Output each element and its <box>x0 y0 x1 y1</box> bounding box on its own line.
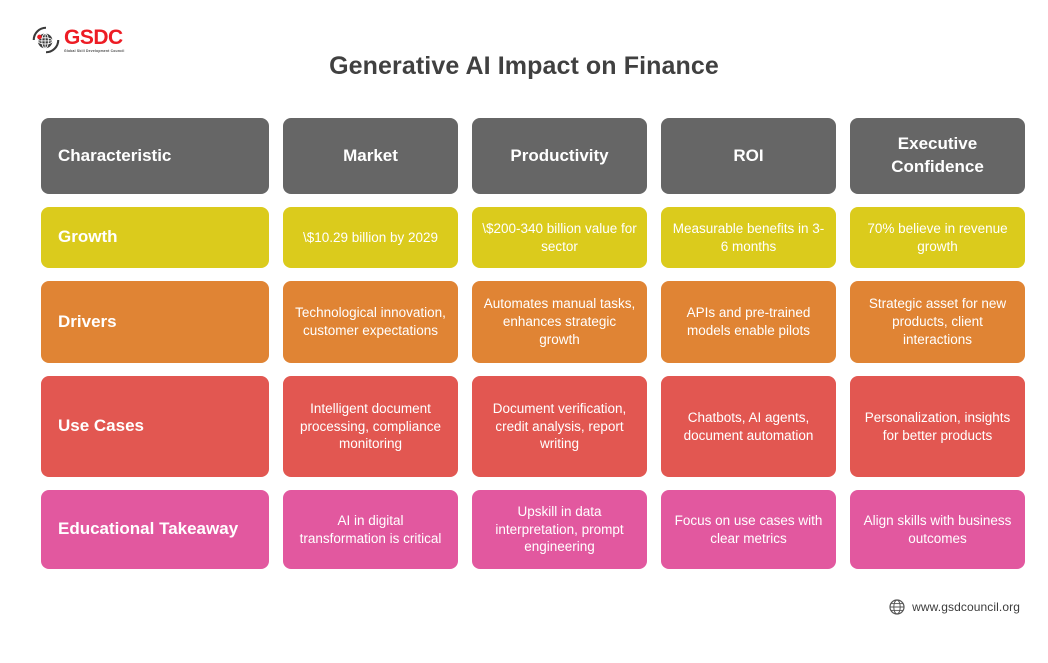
cell-growth-productivity: \$200-340 billion value for sector <box>472 207 647 268</box>
comparison-matrix: Characteristic Market Productivity ROI E… <box>41 118 1001 569</box>
footer-url[interactable]: www.gsdcouncil.org <box>912 600 1020 614</box>
column-header-characteristic: Characteristic <box>41 118 269 194</box>
page-title: Generative AI Impact on Finance <box>0 52 1048 81</box>
cell-growth-roi: Measurable benefits in 3-6 months <box>661 207 836 268</box>
cell-takeaway-executive-confidence: Align skills with business outcomes <box>850 490 1025 569</box>
row-label-educational-takeaway: Educational Takeaway <box>41 490 269 569</box>
cell-use-cases-market: Intelligent document processing, complia… <box>283 376 458 477</box>
cell-use-cases-productivity: Document verification, credit analysis, … <box>472 376 647 477</box>
cell-takeaway-roi: Focus on use cases with clear metrics <box>661 490 836 569</box>
table-row: Educational Takeaway AI in digital trans… <box>41 490 1001 569</box>
row-label-growth: Growth <box>41 207 269 268</box>
column-header-productivity: Productivity <box>472 118 647 194</box>
cell-drivers-market: Technological innovation, customer expec… <box>283 281 458 363</box>
column-header-executive-confidence: Executive Confidence <box>850 118 1025 194</box>
column-header-roi: ROI <box>661 118 836 194</box>
globe-icon <box>889 599 905 615</box>
cell-growth-executive-confidence: 70% believe in revenue growth <box>850 207 1025 268</box>
cell-use-cases-roi: Chatbots, AI agents, document automation <box>661 376 836 477</box>
row-label-use-cases: Use Cases <box>41 376 269 477</box>
cell-drivers-roi: APIs and pre-trained models enable pilot… <box>661 281 836 363</box>
table-header-row: Characteristic Market Productivity ROI E… <box>41 118 1001 194</box>
cell-growth-market: \$10.29 billion by 2029 <box>283 207 458 268</box>
brand-logo: GSDC Global Skill Development Council <box>32 26 124 54</box>
brand-name: GSDC <box>64 27 124 48</box>
row-label-drivers: Drivers <box>41 281 269 363</box>
column-header-market: Market <box>283 118 458 194</box>
table-row: Use Cases Intelligent document processin… <box>41 376 1001 477</box>
cell-takeaway-productivity: Upskill in data interpretation, prompt e… <box>472 490 647 569</box>
table-row: Growth \$10.29 billion by 2029 \$200-340… <box>41 207 1001 268</box>
cell-use-cases-executive-confidence: Personalization, insights for better pro… <box>850 376 1025 477</box>
cell-takeaway-market: AI in digital transformation is critical <box>283 490 458 569</box>
globe-icon <box>32 26 60 54</box>
cell-drivers-productivity: Automates manual tasks, enhances strateg… <box>472 281 647 363</box>
cell-drivers-executive-confidence: Strategic asset for new products, client… <box>850 281 1025 363</box>
table-row: Drivers Technological innovation, custom… <box>41 281 1001 363</box>
footer: www.gsdcouncil.org <box>889 599 1020 615</box>
